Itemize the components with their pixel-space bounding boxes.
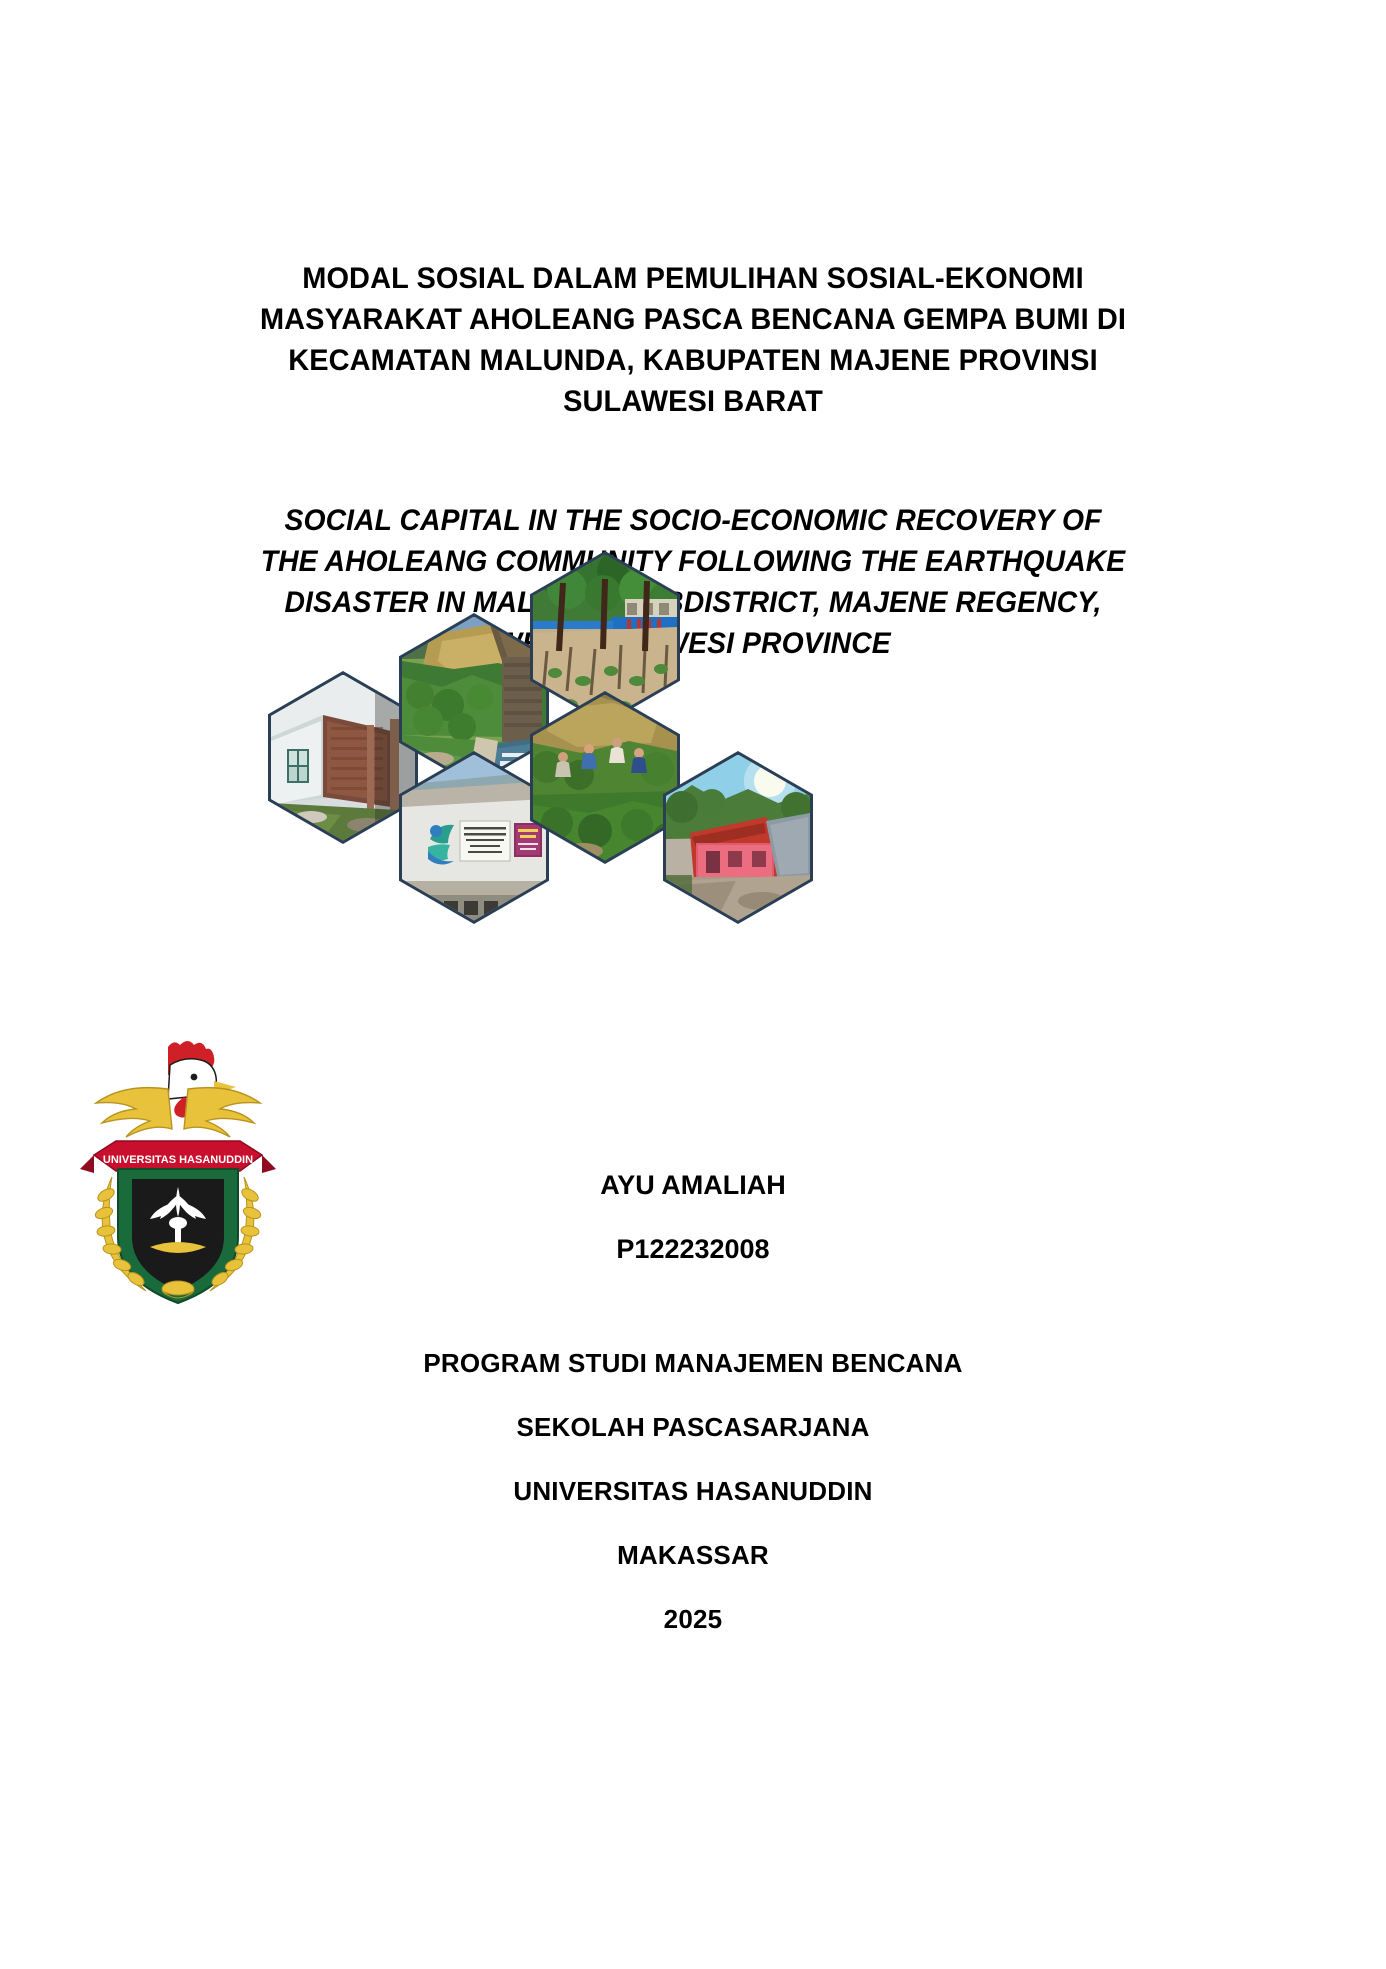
title-line-1: MODAL SOSIAL DALAM PEMULIHAN SOSIAL-EKON… [24, 258, 1361, 299]
damaged-houses-photo [268, 671, 418, 844]
year-line: 2025 [0, 1602, 1386, 1636]
program-line: PROGRAM STUDI MANAJEMEN BENCANA [0, 1346, 1386, 1380]
community-on-rubble-slope-photo [530, 691, 680, 864]
title-line-3: KECAMATAN MALUNDA, KABUPATEN MAJENE PROV… [24, 340, 1361, 381]
pink-house-roadside-photo-image [666, 755, 810, 921]
title-line-2: MASYARAKAT AHOLEANG PASCA BENCANA GEMPA … [24, 299, 1361, 340]
bnpb-office-banner-photo [399, 751, 549, 924]
institution-block: PROGRAM STUDI MANAJEMEN BENCANA SEKOLAH … [0, 1346, 1386, 1636]
subtitle-line-1: SOCIAL CAPITAL IN THE SOCIO-ECONOMIC REC… [28, 500, 1359, 541]
crest-banner-text: UNIVERSITAS HASANUDDIN [103, 1154, 253, 1166]
photo-collage [268, 551, 878, 896]
page-title: MODAL SOSIAL DALAM PEMULIHAN SOSIAL-EKON… [0, 258, 1386, 422]
community-on-rubble-slope-photo-image [533, 695, 677, 861]
university-line: UNIVERSITAS HASANUDDIN [0, 1474, 1386, 1508]
universitas-hasanuddin-crest-logo: UNIVERSITAS HASANUDDIN [72, 1037, 284, 1307]
school-line: SEKOLAH PASCASARJANA [0, 1410, 1386, 1444]
bnpb-office-banner-photo-image [402, 755, 546, 921]
city-line: MAKASSAR [0, 1538, 1386, 1572]
damaged-houses-photo-image [271, 675, 415, 841]
cover-page: MODAL SOSIAL DALAM PEMULIHAN SOSIAL-EKON… [0, 0, 1386, 1969]
pink-house-roadside-photo [663, 751, 813, 924]
title-line-4: SULAWESI BARAT [24, 381, 1361, 422]
